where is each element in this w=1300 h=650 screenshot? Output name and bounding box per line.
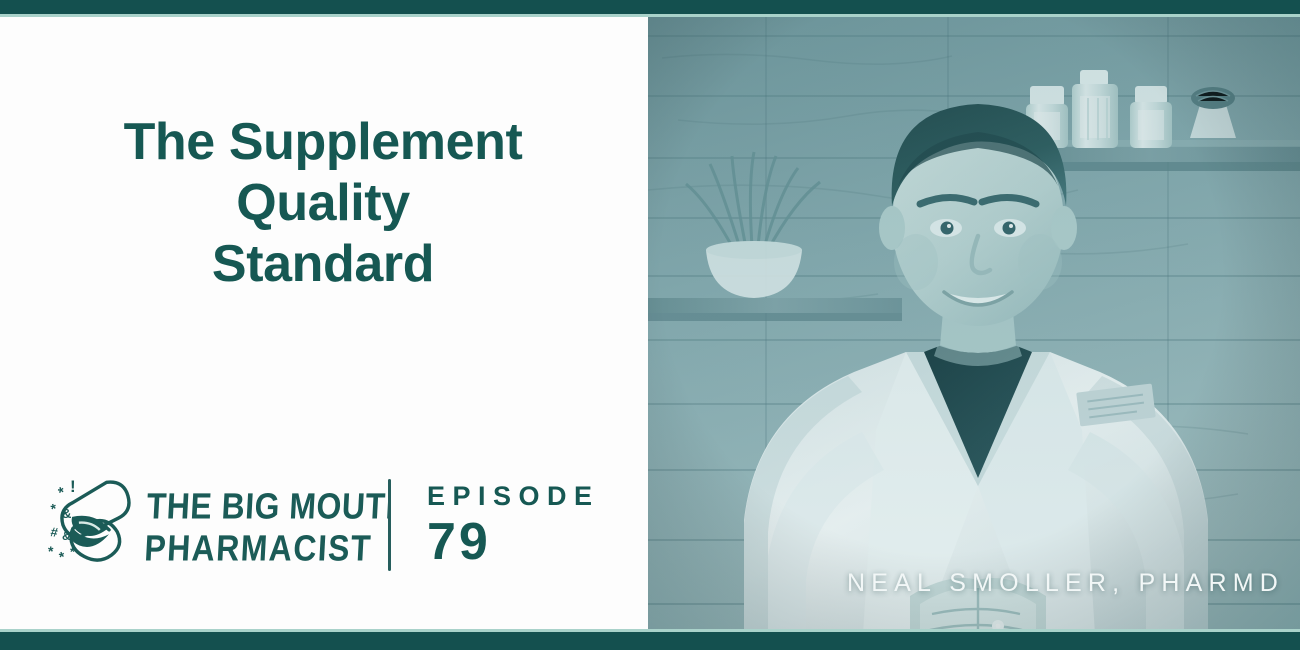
brand-and-episode-row: * ! * & # & * * * THE BIG MOUTH [0,460,646,590]
svg-text:*: * [58,548,67,565]
talking-pill-capsule-icon: * ! * & # & * * * [48,470,136,580]
title-line-1: The Supplement [62,112,584,173]
top-hairline [0,14,1300,17]
podcast-logo: * ! * & # & * * * THE BIG MOUTH [0,460,388,590]
logo-episode-divider [388,479,391,571]
svg-text:*: * [56,484,66,502]
bottom-accent-bar [0,632,1300,650]
svg-text:*: * [49,500,58,517]
svg-text:*: * [48,543,54,559]
episode-label: EPISODE [427,480,600,512]
top-accent-bar [0,0,1300,14]
podcast-wordmark: THE BIG MOUTH PHARMACIST [146,483,388,567]
wordmark-line-1: THE BIG MOUTH [146,486,388,526]
guest-photo-illustration [648,0,1300,650]
title-line-2: Quality [62,173,584,234]
episode-cover-canvas: NEAL SMOLLER, PHARMD The Supplement Qual… [0,0,1300,650]
svg-text:&: & [62,529,71,543]
guest-photo: NEAL SMOLLER, PHARMD [648,0,1300,650]
svg-text:&: & [62,506,71,521]
guest-name: NEAL SMOLLER, PHARMD [847,569,1284,598]
title-line-3: Standard [62,234,584,295]
wordmark-line-2: PHARMACIST [146,529,373,567]
svg-text:!: ! [70,477,76,496]
svg-text:*: * [70,545,75,559]
episode-number: 79 [427,514,600,570]
svg-text:#: # [50,524,60,540]
episode-title: The Supplement Quality Standard [0,112,646,295]
episode-badge: EPISODE 79 [391,480,600,570]
left-text-panel: The Supplement Quality Standard [0,17,646,632]
wordmark-text: THE BIG MOUTH PHARMACIST [146,483,388,567]
